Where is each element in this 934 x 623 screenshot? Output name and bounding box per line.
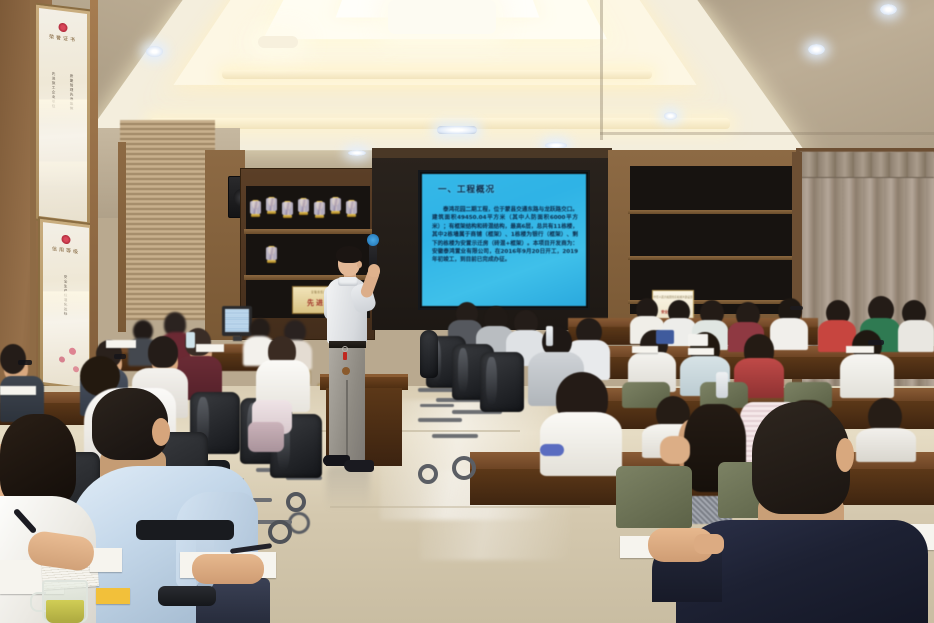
tea-liquid [46,600,84,623]
handbag [248,422,284,452]
water-bottle [546,326,553,346]
presenter-collar [338,277,358,286]
mug-handle [30,592,46,612]
notebook [656,330,674,344]
floor-tile-line [330,506,590,508]
cove-light-inner [222,70,652,79]
foreground-attendee-fingers [694,534,724,554]
trophy-single [268,246,276,263]
chair-caster [286,492,306,512]
window-blinds [120,120,215,320]
eyeglasses-icon [868,340,884,345]
projector-wall-top-trim [372,148,612,158]
eyeglasses-icon [790,306,803,310]
ceiling-shadow-line [600,132,934,135]
eyeglasses-icon [18,360,32,365]
chair-caster [268,520,292,544]
poster-title: 荣誉证书 [39,32,87,45]
notebook-open [688,334,708,346]
presenter-hand [368,264,380,277]
slide-title: 一、工程概况 [438,183,495,195]
conference-room-scene: 安徽省优秀建筑企业 先进金盛 省级文明工地奖牌 优质工程 一、工程概况 泰鸿花园… [0,0,934,623]
ceiling-corner-line [600,0,603,140]
cup [186,332,195,348]
downlight-icon [348,150,366,156]
ceiling-panel-light-small [258,36,298,48]
attendee-torso [770,318,808,350]
paper-sheet [846,346,874,353]
sticky-note [96,588,130,604]
chair-armrest [136,520,234,540]
poster-title: 信用等级 [43,244,89,257]
chair-caster [452,456,476,480]
paper-sheet [0,386,36,395]
attendee-torso [856,428,916,462]
curtain-valance [800,152,934,178]
chair-base [418,418,462,422]
office-chair-back [420,330,438,378]
sleeve-cuff [540,444,564,456]
projection-screen: 一、工程概况 泰鸿花园二期工程，位于蒙县交通东路与龙跃路交口。建筑面积49450… [422,174,586,306]
downlight-strip-icon [437,126,477,134]
foreground-attendee-ear [836,438,854,472]
paper-sheet [106,340,136,348]
slide-body-text: 泰鸿花园二期工程，位于蒙县交通东路与龙跃路交口。建筑面积49450.04平方米（… [432,206,578,265]
poster-frame-rail [30,0,36,440]
downlight-icon [664,112,677,120]
trophy-row-top [248,188,370,230]
presenter-leg-seam [346,380,348,460]
chair-caster [418,464,438,484]
paper-sheet [196,344,224,352]
monitor-stand [233,336,242,341]
downlight-icon [880,4,897,15]
attendee-hair [0,344,26,374]
shelf-edge [628,256,808,260]
foreground-attendee-ear [152,418,170,446]
chair-base [420,404,454,407]
downlight-icon [146,46,163,57]
attendee-torso [840,354,894,398]
downlight-icon [808,44,825,55]
keychain-icon [342,346,351,368]
attendee-torso [898,320,934,352]
attendee-hand [660,436,690,464]
shelf-edge [628,210,808,214]
water-bottle [716,372,728,398]
ceiling-panel-light [388,0,496,34]
eyeglasses-icon [114,354,126,359]
attendee-hair [148,336,178,368]
foreground-attendee-hand [192,554,264,584]
presenter-shoe [344,460,374,472]
floor-reflection-presenter [326,466,370,510]
certificate-subtitle: 中华人民共和国住房和城乡建设部 [653,295,693,299]
paper-sheet [688,348,714,355]
office-chair [480,352,524,412]
wall-trim-vertical [118,142,126,332]
microphone-icon[interactable] [367,234,379,246]
paper-sheet [90,548,122,572]
monitor-screen [225,309,249,332]
poster-frame-upper: 荣誉证书 先进施工企业单位 质量管理先进集体 [34,2,92,227]
paper-sheet [632,346,658,353]
chair-base-hub [158,586,216,606]
note-taker-hair [0,414,76,506]
upholstered-chair [616,466,692,528]
chair-base [432,434,478,438]
presenter-ear [357,261,362,268]
